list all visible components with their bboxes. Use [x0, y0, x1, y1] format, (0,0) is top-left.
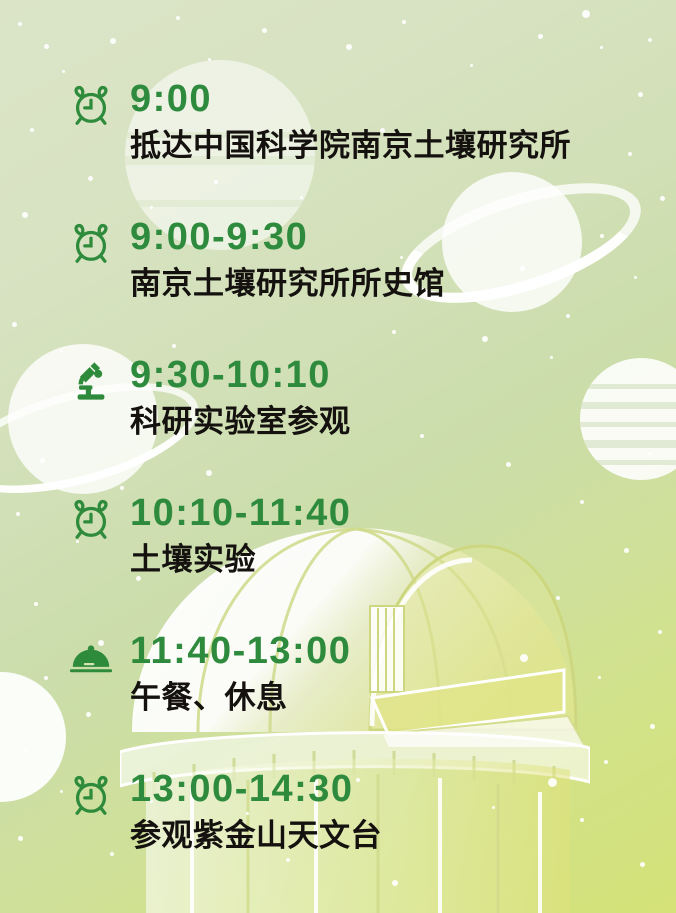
- schedule-time: 13:00-14:30: [130, 766, 676, 812]
- microscope-icon: [68, 358, 114, 404]
- schedule-row-body: 9:30-10:10 科研实验室参观: [130, 352, 676, 444]
- schedule-row-body: 9:00 抵达中国科学院南京土壤研究所: [130, 76, 676, 168]
- alarm-clock-icon: [68, 82, 114, 128]
- alarm-clock-icon: [68, 496, 114, 542]
- schedule-row[interactable]: 13:00-14:30 参观紫金山天文台: [0, 766, 676, 904]
- schedule-poster: 9:00 抵达中国科学院南京土壤研究所 9:: [0, 0, 676, 913]
- schedule-description: 南京土壤研究所所史馆: [130, 262, 676, 306]
- schedule-row[interactable]: 9:00-9:30 南京土壤研究所所史馆: [0, 214, 676, 352]
- schedule-row[interactable]: 9:00 抵达中国科学院南京土壤研究所: [0, 76, 676, 214]
- schedule-time: 9:00: [130, 76, 676, 122]
- schedule-row[interactable]: 11:40-13:00 午餐、休息: [0, 628, 676, 766]
- schedule-description: 参观紫金山天文台: [130, 814, 676, 858]
- schedule-description: 科研实验室参观: [130, 400, 676, 444]
- food-cloche-icon: [68, 640, 114, 686]
- schedule-description: 午餐、休息: [130, 676, 676, 720]
- schedule-time: 9:30-10:10: [130, 352, 676, 398]
- alarm-clock-icon: [68, 772, 114, 818]
- schedule-row-body: 11:40-13:00 午餐、休息: [130, 628, 676, 720]
- schedule-description: 抵达中国科学院南京土壤研究所: [130, 124, 676, 168]
- schedule-description: 土壤实验: [130, 538, 676, 582]
- schedule-row[interactable]: 9:30-10:10 科研实验室参观: [0, 352, 676, 490]
- schedule-row-body: 9:00-9:30 南京土壤研究所所史馆: [130, 214, 676, 306]
- schedule-list: 9:00 抵达中国科学院南京土壤研究所 9:: [0, 0, 676, 904]
- schedule-row-body: 13:00-14:30 参观紫金山天文台: [130, 766, 676, 858]
- schedule-time: 9:00-9:30: [130, 214, 676, 260]
- alarm-clock-icon: [68, 220, 114, 266]
- schedule-time: 10:10-11:40: [130, 490, 676, 536]
- schedule-time: 11:40-13:00: [130, 628, 676, 674]
- schedule-row[interactable]: 10:10-11:40 土壤实验: [0, 490, 676, 628]
- schedule-row-body: 10:10-11:40 土壤实验: [130, 490, 676, 582]
